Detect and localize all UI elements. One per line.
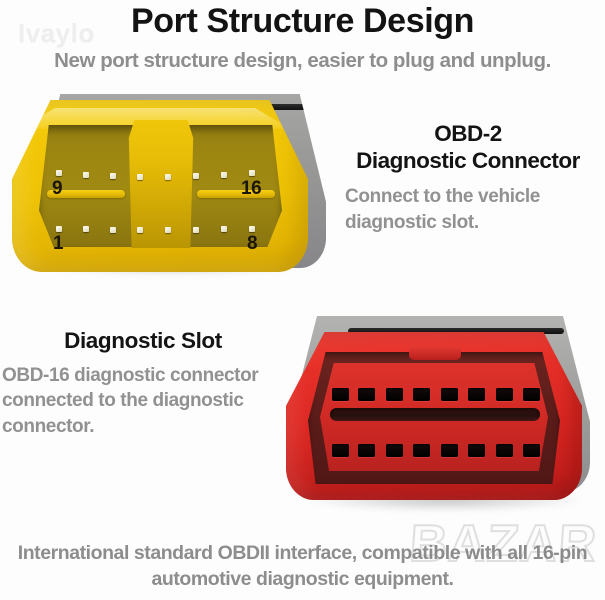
watermark-bazar: BAZAR: [408, 514, 599, 574]
male-pin-9: [56, 170, 62, 176]
female-socket-2: [358, 444, 375, 457]
male-pin-10: [83, 172, 89, 178]
female-socket-9: [332, 388, 349, 401]
female-connector-key-notch: [409, 346, 461, 360]
slot-body-line3: connector.: [2, 414, 300, 439]
female-socket-12: [413, 388, 430, 401]
female-socket-13: [441, 388, 458, 401]
female-connector-center-groove: [330, 408, 540, 421]
male-pin-13: [165, 174, 171, 180]
obd2-heading: OBD-2 Diagnostic Connector: [332, 120, 604, 175]
obd16-female-connector-image: [286, 316, 604, 516]
female-socket-3: [386, 444, 403, 457]
obd2-male-connector-image: 9 16 1 8: [12, 92, 332, 282]
female-socket-10: [358, 388, 375, 401]
obd2-body-line1: Connect to the vehicle: [345, 184, 604, 210]
infographic-page: Ivaylo BAZAR Port Structure Design New p…: [0, 0, 605, 600]
female-socket-4: [413, 444, 430, 457]
male-pin-8: [249, 226, 255, 232]
male-pin-15: [221, 172, 227, 178]
obd2-body: Connect to the vehicle diagnostic slot.: [332, 184, 604, 235]
slot-heading: Diagnostic Slot: [0, 328, 300, 354]
male-pin-4: [137, 227, 143, 233]
male-pin-1: [56, 226, 62, 232]
male-connector-ridge-right: [197, 190, 275, 198]
male-pin-16: [249, 170, 255, 176]
male-pin-14: [193, 173, 199, 179]
female-socket-1: [332, 444, 349, 457]
male-pin-5: [165, 227, 171, 233]
female-socket-5: [441, 444, 458, 457]
male-pin-3: [110, 227, 116, 233]
slot-body-line1: OBD-16 diagnostic connector: [2, 363, 300, 388]
obd2-heading-line2: Diagnostic Connector: [332, 147, 604, 174]
obd2-body-line2: diagnostic slot.: [345, 210, 604, 236]
male-pin-2: [83, 226, 89, 232]
pin-label-8: 8: [247, 233, 257, 255]
slot-body-line2: connected to the diagnostic: [2, 388, 300, 413]
obd2-text-block: OBD-2 Diagnostic Connector Connect to th…: [332, 120, 604, 235]
pin-label-9: 9: [52, 178, 62, 200]
slot-body: OBD-16 diagnostic connector connected to…: [0, 363, 300, 439]
female-socket-11: [386, 388, 403, 401]
pin-label-1: 1: [53, 233, 63, 255]
diagnostic-slot-text-block: Diagnostic Slot OBD-16 diagnostic connec…: [0, 328, 300, 439]
page-subtitle: New port structure design, easier to plu…: [0, 49, 605, 73]
male-pin-6: [193, 227, 199, 233]
female-socket-16: [523, 388, 540, 401]
female-socket-8: [523, 444, 540, 457]
male-pin-12: [137, 174, 143, 180]
female-socket-7: [496, 444, 513, 457]
female-socket-14: [468, 388, 485, 401]
male-pin-7: [221, 226, 227, 232]
obd2-heading-line1: OBD-2: [332, 120, 604, 147]
female-socket-15: [496, 388, 513, 401]
page-title: Port Structure Design: [0, 2, 605, 41]
male-pin-11: [110, 173, 116, 179]
female-socket-6: [468, 444, 485, 457]
pin-label-16: 16: [241, 178, 261, 200]
